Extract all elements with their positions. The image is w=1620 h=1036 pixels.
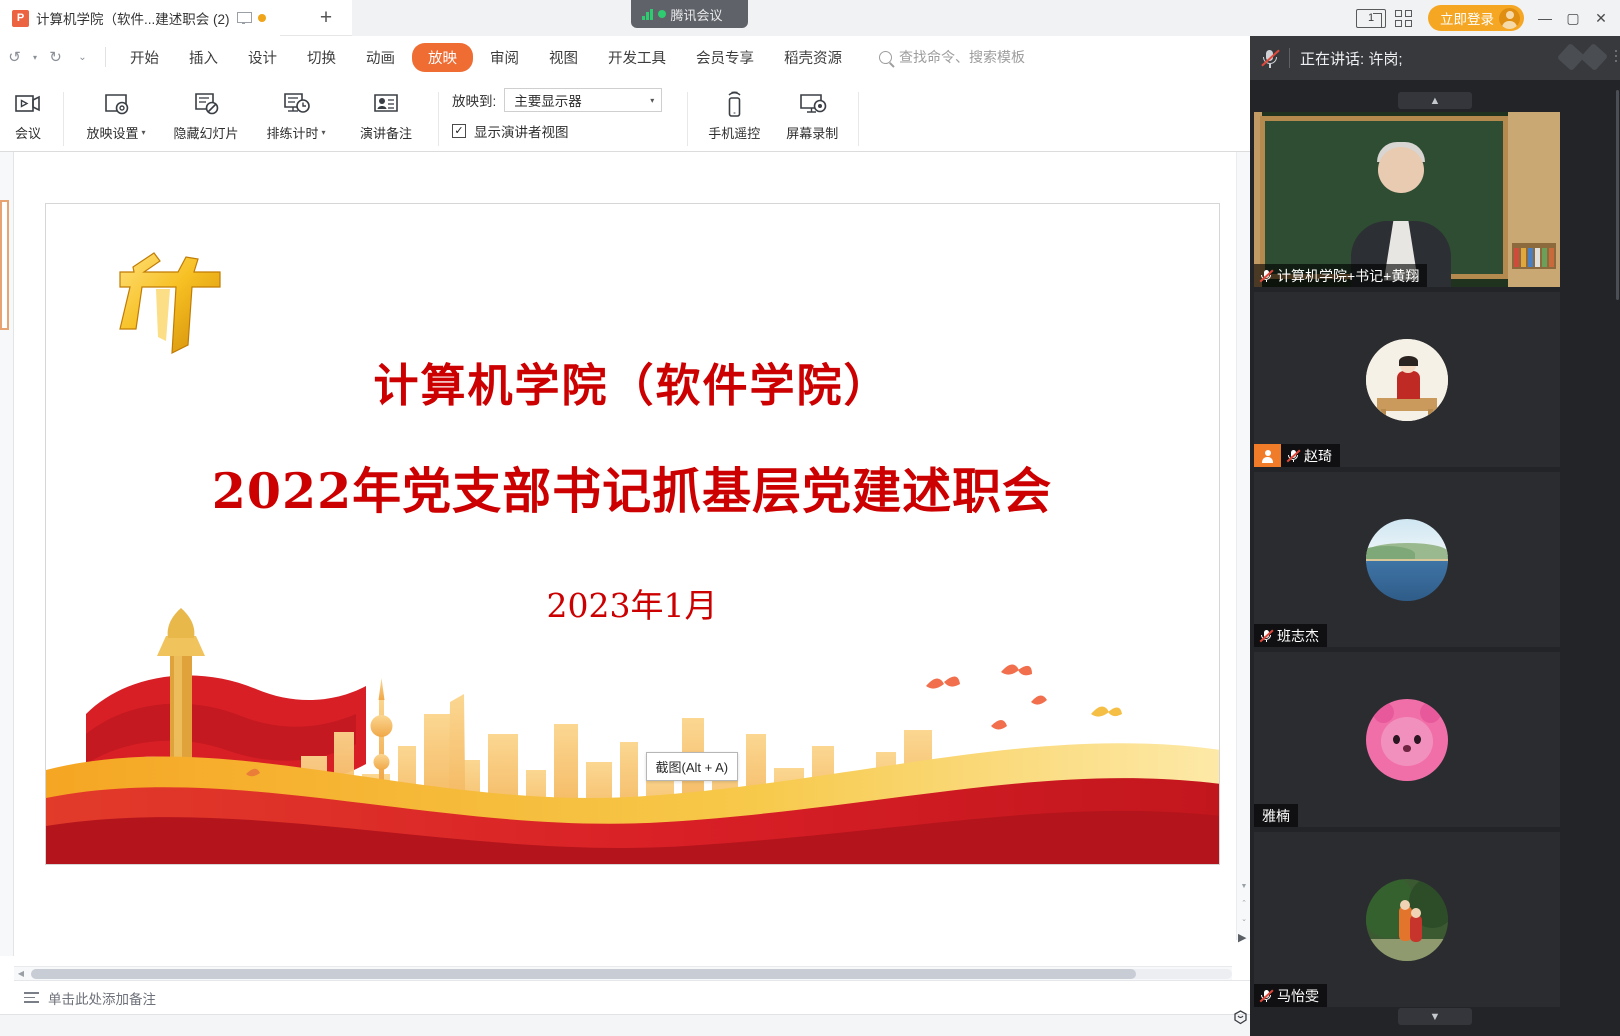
presenter-view-label: 显示演讲者视图 — [474, 121, 569, 141]
screen-record-button[interactable]: 屏幕录制 — [773, 84, 851, 148]
notes-icon — [24, 992, 39, 1003]
participant-tile-video[interactable]: 计算机学院+书记+黄翔 — [1254, 112, 1560, 287]
slideshow-group: 放映设置▾ 隐藏幻灯片 排练计时▾ — [71, 78, 446, 152]
beautify-icon — [1232, 1009, 1249, 1026]
more-options-icon[interactable] — [1615, 50, 1617, 62]
slide-thumbnail-panel[interactable] — [0, 152, 14, 956]
hscroll-track[interactable] — [31, 969, 1232, 979]
meeting-button[interactable]: 会议 — [0, 84, 56, 148]
login-button[interactable]: 立即登录 — [1428, 5, 1524, 31]
bookshelf — [1512, 243, 1556, 269]
meeting-panel: 正在讲话: 许岗; ▲ — [1250, 36, 1620, 1036]
mic-muted-icon — [1259, 988, 1273, 1003]
previous-slide-icon[interactable]: ⌃ — [1237, 895, 1251, 910]
tab-insert[interactable]: 插入 — [176, 43, 231, 72]
avatar — [1366, 519, 1448, 601]
meeting-panel-header: 正在讲话: 许岗; — [1250, 36, 1620, 80]
tab-member-exclusive[interactable]: 会员专享 — [683, 43, 767, 72]
play-from-current-icon[interactable]: ▶ — [1238, 931, 1246, 944]
phone-remote-button[interactable]: 手机遥控 — [695, 84, 773, 148]
application-window: P 计算机学院（软件...建述职会 (2) + 1 立即登录 — ▢ ✕ 腾讯会… — [0, 0, 1620, 1036]
tencent-meeting-label: 腾讯会议 — [671, 5, 723, 24]
tab-docer-resources[interactable]: 稻壳资源 — [771, 43, 855, 72]
participant-name: 雅楠 — [1262, 806, 1290, 826]
chevron-down-icon: ▾ — [650, 96, 654, 105]
rehearse-timing-icon — [281, 89, 311, 119]
mic-muted-icon[interactable] — [1260, 48, 1279, 68]
slide-date[interactable]: 2023年1月 — [46, 579, 1219, 627]
participant-tile[interactable]: 马怡雯 — [1254, 832, 1560, 1007]
participant-name: 班志杰 — [1277, 626, 1319, 646]
display-to-label: 放映到: — [452, 90, 496, 110]
slide-canvas-area[interactable]: 计算机学院（软件学院） 2022年党支部书记抓基层党建述职会 2023年1月 截… — [14, 152, 1250, 956]
undo-dropdown-icon[interactable]: ▾ — [29, 44, 41, 70]
avatar — [1366, 879, 1448, 961]
hide-slide-button[interactable]: 隐藏幻灯片 — [161, 84, 251, 148]
participant-name: 马怡雯 — [1277, 986, 1319, 1006]
ribbon-toolbar: 会议 放映设置▾ 隐藏幻灯片 — [0, 78, 1250, 152]
scroll-up-button[interactable]: ▲ — [1398, 92, 1472, 109]
notes-pane[interactable]: 单击此处添加备注 — [14, 980, 1250, 1014]
login-button-label: 立即登录 — [1440, 8, 1494, 28]
scrollbar-thumb[interactable] — [1616, 90, 1619, 300]
tencent-meeting-logo-icon — [1561, 47, 1604, 67]
app-grid-button[interactable] — [1388, 4, 1418, 32]
scroll-left-icon[interactable]: ◀ — [14, 969, 28, 978]
screen-record-label: 屏幕录制 — [786, 123, 838, 142]
quick-access-toolbar: ↺ ▾ ↻ ⌄ — [0, 44, 115, 70]
slideshow-settings-label: 放映设置▾ — [86, 123, 145, 142]
participant-name-row: 班志杰 — [1254, 624, 1327, 647]
tab-slideshow[interactable]: 放映 — [412, 43, 473, 72]
signal-bars-icon — [642, 9, 653, 20]
search-placeholder: 查找命令、搜索模板 — [899, 47, 1025, 67]
next-slide-icon[interactable]: ⌄ — [1237, 911, 1251, 926]
meeting-group: 会议 — [0, 78, 71, 152]
phone-remote-label: 手机遥控 — [708, 123, 760, 142]
user-avatar-icon — [1499, 8, 1520, 29]
tab-developer-tools[interactable]: 开发工具 — [595, 43, 679, 72]
tab-view[interactable]: 视图 — [536, 43, 591, 72]
participant-tile[interactable]: 班志杰 — [1254, 472, 1560, 647]
tab-transitions[interactable]: 切换 — [294, 43, 349, 72]
display-options-group: 放映到: 主要显示器 ▾ ✓ 显示演讲者视图 — [446, 78, 662, 141]
undo-icon[interactable]: ↺ — [2, 44, 27, 70]
mic-muted-icon — [1259, 268, 1273, 283]
ribbon-divider — [438, 92, 439, 146]
rehearse-timing-label: 排练计时▾ — [266, 123, 325, 142]
rehearse-timing-button[interactable]: 排练计时▾ — [251, 84, 341, 148]
search-box[interactable]: 查找命令、搜索模板 — [879, 47, 1025, 67]
participant-name-row: 计算机学院+书记+黄翔 — [1254, 264, 1427, 287]
new-tab-button[interactable]: + — [308, 4, 344, 32]
monitor-icon — [237, 12, 251, 24]
slide-editing-surface[interactable]: 计算机学院（软件学院） 2022年党支部书记抓基层党建述职会 2023年1月 截… — [45, 203, 1220, 865]
ribbon-divider — [63, 92, 64, 146]
tab-design[interactable]: 设计 — [235, 43, 290, 72]
search-icon — [879, 51, 892, 64]
unsaved-dot-icon — [258, 14, 266, 22]
tab-review[interactable]: 审阅 — [477, 43, 532, 72]
slideshow-settings-button[interactable]: 放映设置▾ — [71, 84, 161, 148]
minimize-button[interactable]: — — [1532, 10, 1558, 26]
chevron-down-icon: ▾ — [142, 128, 146, 137]
avatar — [1366, 699, 1448, 781]
window-controls: 1 立即登录 — ▢ ✕ — [1356, 0, 1620, 36]
participant-name-row: 赵琦 — [1281, 444, 1340, 467]
scroll-down-button[interactable]: ▼ — [1398, 1008, 1472, 1025]
participant-name: 赵琦 — [1304, 446, 1332, 466]
host-badge — [1254, 444, 1281, 467]
screen-record-icon — [797, 89, 827, 119]
remote-record-group: 手机遥控 屏幕录制 — [680, 78, 866, 152]
editor-area: 计算机学院（软件学院） 2022年党支部书记抓基层党建述职会 2023年1月 截… — [0, 152, 1250, 1036]
mic-muted-icon — [1259, 628, 1273, 643]
presenter-view-checkbox[interactable]: ✓ — [452, 124, 466, 138]
video-feed — [1254, 112, 1560, 287]
participant-name-row: 雅楠 — [1254, 804, 1298, 827]
title-bar: P 计算机学院（软件...建述职会 (2) + 1 立即登录 — ▢ ✕ — [0, 0, 1620, 36]
participant-tile[interactable]: 雅楠 — [1254, 652, 1560, 827]
speaker-notes-button[interactable]: 演讲备注 — [341, 84, 431, 148]
hide-slide-icon — [191, 89, 221, 119]
display-to-value: 主要显示器 — [514, 90, 582, 110]
display-to-row: 放映到: 主要显示器 ▾ — [452, 88, 662, 112]
speaker-notes-label: 演讲备注 — [360, 123, 412, 142]
toolbar-divider — [105, 47, 106, 67]
phone-remote-icon — [721, 89, 747, 119]
status-bar — [0, 1014, 1250, 1036]
slideshow-settings-icon — [101, 89, 131, 119]
document-tab[interactable]: P 计算机学院（软件...建述职会 (2) — [0, 0, 280, 36]
speaking-status: 正在讲话: 许岗; — [1300, 48, 1403, 69]
mic-muted-icon — [1286, 448, 1300, 463]
tencent-meeting-pill[interactable]: 腾讯会议 — [631, 0, 748, 28]
quick-access-more-icon[interactable]: ⌄ — [70, 44, 95, 70]
hscroll-thumb[interactable] — [31, 969, 1136, 979]
participant-name-row: 马怡雯 — [1254, 984, 1327, 1007]
maximize-button[interactable]: ▢ — [1560, 10, 1586, 27]
slide-title[interactable]: 计算机学院（软件学院） — [46, 349, 1219, 414]
hide-slide-label: 隐藏幻灯片 — [173, 123, 238, 142]
speaker-notes-icon — [371, 89, 401, 119]
redo-icon[interactable]: ↻ — [43, 44, 68, 70]
green-dot-icon — [658, 10, 666, 18]
meeting-video-icon — [13, 89, 43, 119]
participant-list[interactable]: ▲ 计算机学院+书记+黄翔 — [1250, 80, 1620, 1036]
close-button[interactable]: ✕ — [1588, 10, 1614, 27]
page-indicator: 1 — [1356, 9, 1386, 28]
ribbon-tab-strip: ↺ ▾ ↻ ⌄ 开始 插入 设计 切换 动画 放映 审阅 视图 开发工具 会员专… — [0, 36, 1250, 78]
scroll-down-icon[interactable]: ▼ — [1237, 879, 1251, 894]
tab-animations[interactable]: 动画 — [353, 43, 408, 72]
presenter-view-row[interactable]: ✓ 显示演讲者视图 — [452, 121, 662, 141]
slide-subtitle[interactable]: 2022年党支部书记抓基层党建述职会 — [46, 452, 1219, 523]
document-tab-title: 计算机学院（软件...建述职会 (2) — [36, 8, 230, 28]
meeting-button-label: 会议 — [15, 123, 41, 142]
ribbon-divider — [858, 92, 859, 146]
display-to-select[interactable]: 主要显示器 ▾ — [504, 88, 662, 112]
ribbon-divider — [687, 92, 688, 146]
canvas-horizontal-scrollbar[interactable]: ◀ — [14, 966, 1232, 980]
chevron-down-icon: ▾ — [322, 128, 326, 137]
avatar — [1366, 339, 1448, 421]
screenshot-tooltip: 截图(Alt + A) — [646, 752, 739, 781]
notes-placeholder: 单击此处添加备注 — [48, 988, 156, 1008]
participant-tile-host[interactable]: 赵琦 — [1254, 292, 1560, 467]
canvas-vertical-scrollbar[interactable]: ▼ ⌃ ⌄ ▶ — [1236, 152, 1250, 940]
tab-start[interactable]: 开始 — [117, 43, 172, 72]
header-divider — [1289, 48, 1290, 68]
participant-list-scrollbar[interactable] — [1615, 80, 1620, 1036]
page-count-button[interactable]: 1 — [1356, 4, 1386, 32]
presentation-file-icon: P — [12, 10, 29, 27]
slide-thumbnail-selected[interactable] — [0, 200, 9, 330]
participant-name: 计算机学院+书记+黄翔 — [1277, 266, 1419, 286]
app-grid-icon — [1395, 10, 1412, 27]
